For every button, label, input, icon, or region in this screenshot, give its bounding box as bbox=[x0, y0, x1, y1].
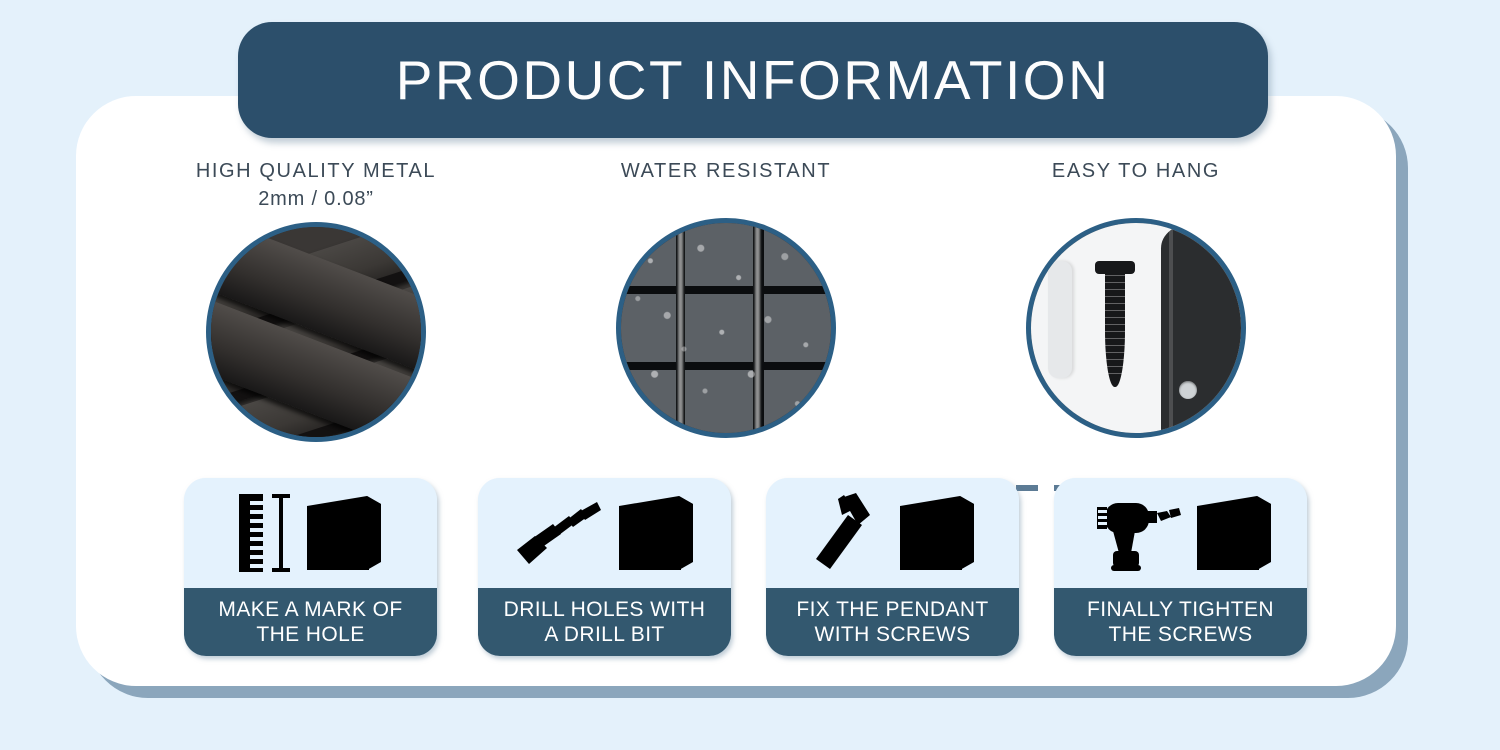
water-illustration bbox=[621, 223, 831, 433]
step-label: DRILL HOLES WITH A DRILL BIT bbox=[478, 588, 731, 656]
drill-bit-icon bbox=[513, 498, 605, 568]
step-label-line2: THE HOLE bbox=[256, 622, 364, 647]
infographic-root: PRODUCT INFORMATION HIGH QUALITY METAL 2… bbox=[0, 0, 1500, 750]
hammer-icon bbox=[808, 489, 886, 577]
features-row: HIGH QUALITY METAL 2mm / 0.08” WATER RES… bbox=[76, 160, 1396, 460]
page-title-banner: PRODUCT INFORMATION bbox=[238, 22, 1268, 138]
step-label: FINALLY TIGHTEN THE SCREWS bbox=[1054, 588, 1307, 656]
feature-title: WATER RESISTANT bbox=[556, 160, 896, 183]
step-label: FIX THE PENDANT WITH SCREWS bbox=[766, 588, 1019, 656]
metal-panel bbox=[1161, 223, 1241, 433]
hang-illustration bbox=[1031, 223, 1241, 433]
water-droplets-on-metal-photo bbox=[616, 218, 836, 438]
feature-title: HIGH QUALITY METAL bbox=[146, 160, 486, 183]
power-drill-icon bbox=[1087, 491, 1183, 575]
step-label-line1: FIX THE PENDANT bbox=[796, 597, 988, 622]
step-label-line2: THE SCREWS bbox=[1108, 622, 1252, 647]
screw-threads bbox=[1105, 275, 1125, 377]
step-icon-group bbox=[766, 478, 1019, 588]
step-card-drill-holes[interactable]: DRILL HOLES WITH A DRILL BIT bbox=[478, 478, 731, 656]
feature-water-resistant: WATER RESISTANT bbox=[556, 160, 896, 188]
panel-icon bbox=[1191, 490, 1275, 576]
feature-easy-to-hang: EASY TO HANG bbox=[966, 160, 1306, 188]
ruler-icon bbox=[237, 492, 293, 574]
water-droplets bbox=[621, 223, 831, 433]
step-label-line1: DRILL HOLES WITH bbox=[504, 597, 706, 622]
panel-icon bbox=[301, 490, 385, 576]
wall-ridge bbox=[1048, 261, 1072, 379]
screw-icon bbox=[1105, 269, 1125, 387]
step-card-finally-tighten[interactable]: FINALLY TIGHTEN THE SCREWS bbox=[1054, 478, 1307, 656]
metal-illustration bbox=[211, 227, 421, 437]
step-icon-group bbox=[184, 478, 437, 588]
step-icon-group bbox=[1054, 478, 1307, 588]
panel-icon bbox=[613, 490, 697, 576]
feature-title: EASY TO HANG bbox=[966, 160, 1306, 183]
step-label: MAKE A MARK OF THE HOLE bbox=[184, 588, 437, 656]
step-icon-group bbox=[478, 478, 731, 588]
feature-subtitle: 2mm / 0.08” bbox=[146, 188, 486, 211]
screw-and-mounting-hole-photo bbox=[1026, 218, 1246, 438]
step-label-line2: WITH SCREWS bbox=[814, 622, 970, 647]
steps-row: MAKE A MARK OF THE HOLE bbox=[76, 478, 1396, 668]
feature-high-quality-metal: HIGH QUALITY METAL 2mm / 0.08” bbox=[146, 160, 486, 211]
stacked-metal-sheets-photo bbox=[206, 222, 426, 442]
step-label-line1: MAKE A MARK OF bbox=[218, 597, 402, 622]
step-label-line2: A DRILL BIT bbox=[544, 622, 664, 647]
page-title: PRODUCT INFORMATION bbox=[396, 48, 1111, 112]
step-card-fix-the-pendant[interactable]: FIX THE PENDANT WITH SCREWS bbox=[766, 478, 1019, 656]
step-label-line1: FINALLY TIGHTEN bbox=[1087, 597, 1274, 622]
panel-icon bbox=[894, 490, 978, 576]
screw-head bbox=[1095, 261, 1135, 274]
step-card-make-a-mark[interactable]: MAKE A MARK OF THE HOLE bbox=[184, 478, 437, 656]
